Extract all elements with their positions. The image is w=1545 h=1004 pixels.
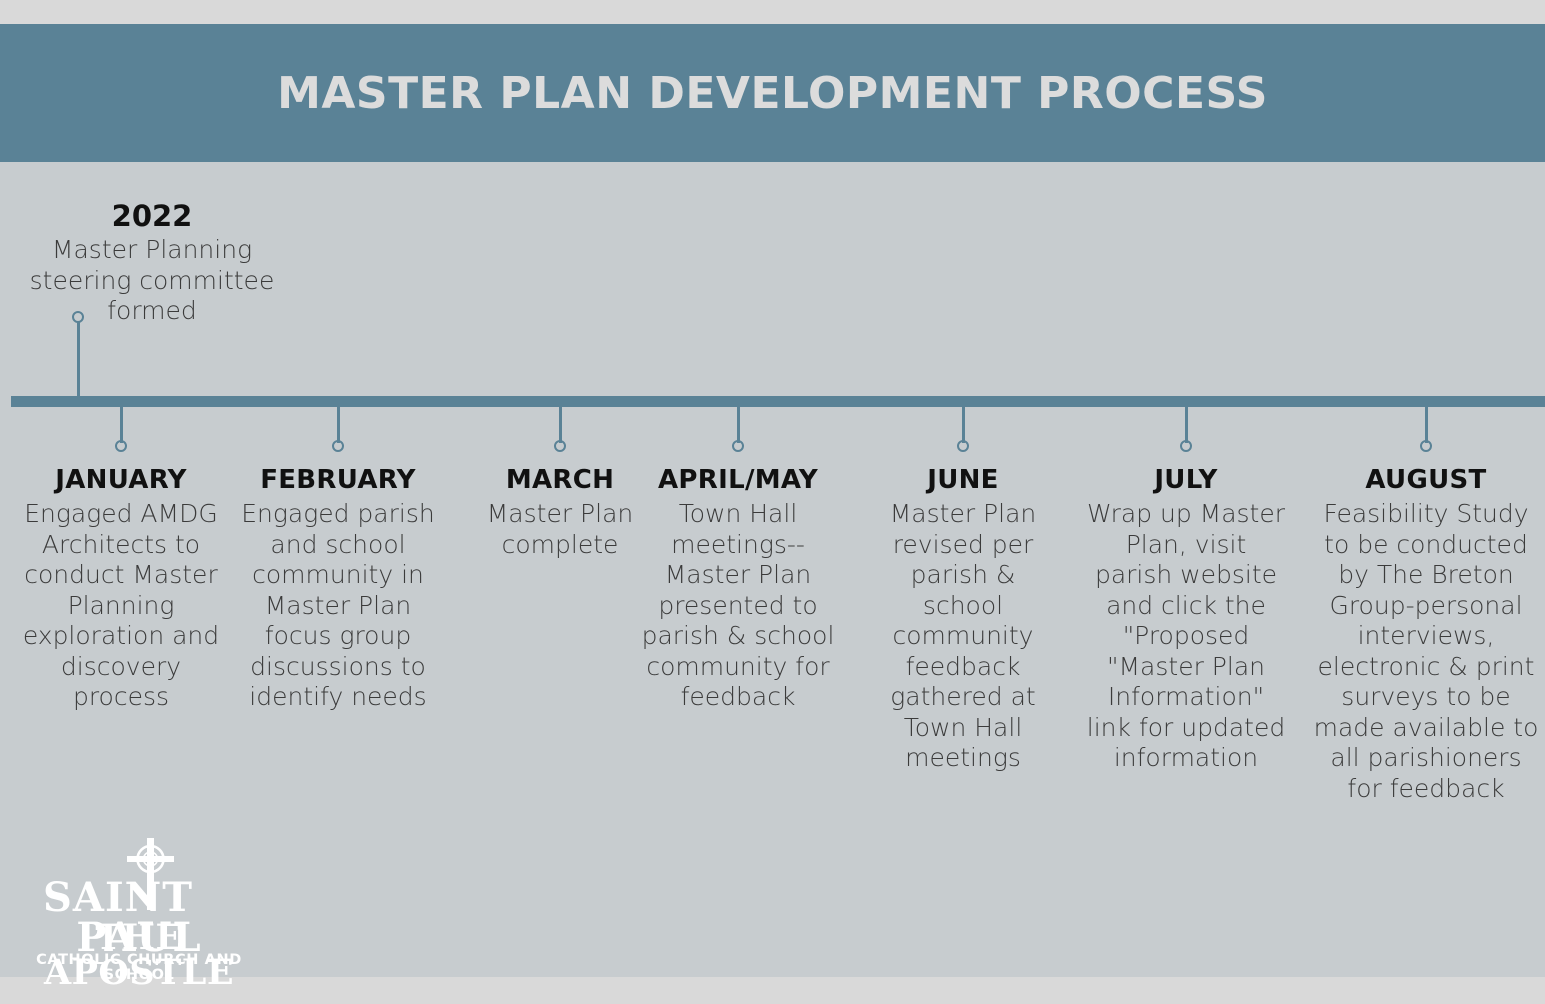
milestone-label: JULY	[1086, 465, 1286, 496]
milestone-stem	[120, 407, 123, 443]
milestone-marker-icon	[732, 440, 744, 452]
milestone-label: JANUARY	[14, 465, 228, 496]
milestone-description: Engaged parish and school community in M…	[233, 499, 443, 713]
milestone-description: Town Hall meetings--Master Plan presente…	[638, 499, 838, 713]
top-margin-strip	[0, 0, 1545, 24]
logo-line-3: CATHOLIC CHURCH AND SCHOOL	[14, 953, 264, 982]
year-callout-marker-icon	[72, 311, 84, 323]
milestone-text: AUGUST Feasibility Study to be conducted…	[1312, 465, 1540, 804]
milestone-stem	[1425, 407, 1428, 443]
milestone-description: Master Plan revised per parish & school …	[869, 499, 1057, 774]
milestone-text: FEBRUARY Engaged parish and school commu…	[233, 465, 443, 713]
timeline-milestones: JANUARY Engaged AMDG Architects to condu…	[0, 407, 1545, 837]
milestone-description: Feasibility Study to be conducted by The…	[1312, 499, 1540, 804]
milestone-label: JUNE	[869, 465, 1057, 496]
milestone-text: APRIL/MAY Town Hall meetings--Master Pla…	[638, 465, 838, 713]
timeline-poster: MASTER PLAN DEVELOPMENT PROCESS 2022 Mas…	[0, 0, 1545, 1004]
milestone-stem	[337, 407, 340, 443]
milestone-marker-icon	[1420, 440, 1432, 452]
milestone-marker-icon	[332, 440, 344, 452]
header-banner: MASTER PLAN DEVELOPMENT PROCESS	[0, 24, 1545, 162]
milestone-label: FEBRUARY	[233, 465, 443, 496]
milestone-stem	[1185, 407, 1188, 443]
milestone-description: Engaged AMDG Architects to conduct Maste…	[14, 499, 228, 713]
milestone-stem	[737, 407, 740, 443]
milestone-label: MARCH	[485, 465, 635, 496]
timeline-axis-bar	[11, 396, 1545, 407]
milestone-description: Master Plan complete	[485, 499, 635, 560]
parish-logo: SAINTPAUL THE APOSTLE CATHOLIC CHURCH AN…	[14, 836, 264, 966]
milestone-description: Wrap up Master Plan, visit parish websit…	[1086, 499, 1286, 774]
milestone-stem	[962, 407, 965, 443]
milestone-marker-icon	[554, 440, 566, 452]
year-callout-stem	[77, 322, 80, 400]
milestone-text: JUNE Master Plan revised per parish & sc…	[869, 465, 1057, 774]
milestone-label: APRIL/MAY	[638, 465, 838, 496]
milestone-stem	[559, 407, 562, 443]
milestone-label: AUGUST	[1312, 465, 1540, 496]
milestone-text: MARCH Master Plan complete	[485, 465, 635, 560]
milestone-marker-icon	[1180, 440, 1192, 452]
milestone-text: JANUARY Engaged AMDG Architects to condu…	[14, 465, 228, 713]
milestone-marker-icon	[115, 440, 127, 452]
milestone-text: JULY Wrap up Master Plan, visit parish w…	[1086, 465, 1286, 774]
page-title: MASTER PLAN DEVELOPMENT PROCESS	[277, 68, 1268, 119]
milestone-marker-icon	[957, 440, 969, 452]
